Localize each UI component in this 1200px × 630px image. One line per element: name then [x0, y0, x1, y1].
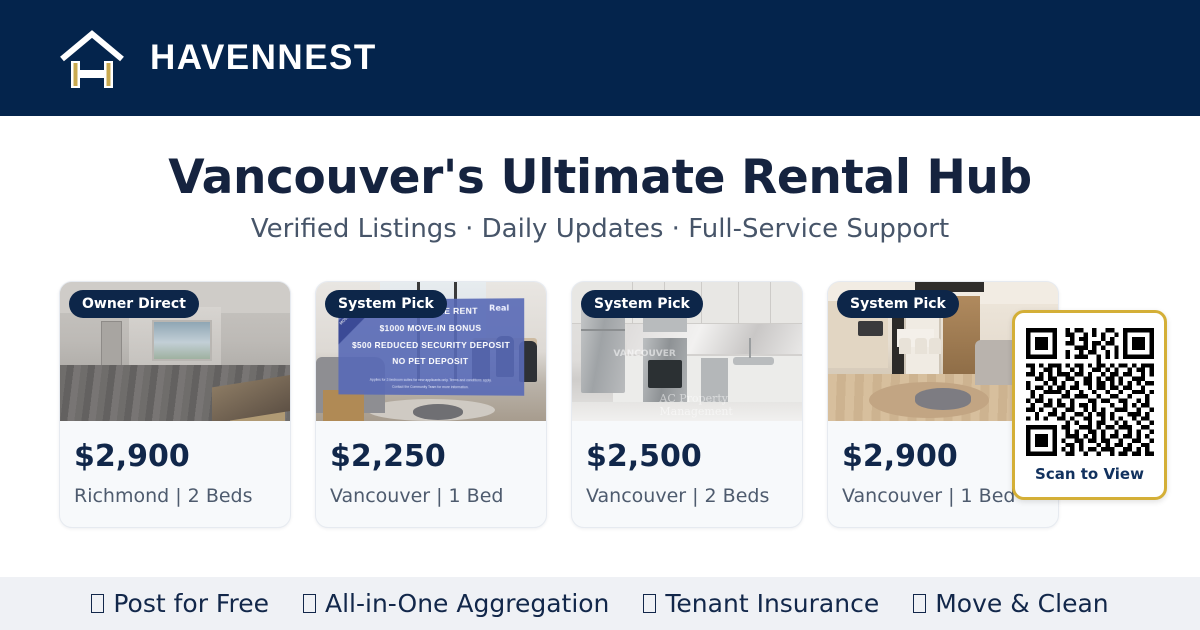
missing-glyph-box-icon [303, 594, 316, 613]
listing-badge: System Pick [325, 290, 447, 318]
promo-line: $1000 MOVE-IN BONUS [379, 319, 481, 336]
qr-label: Scan to View [1035, 465, 1144, 483]
page-title: Vancouver's Ultimate Rental Hub [0, 150, 1200, 205]
feature-item-tenant-insurance[interactable]: Tenant Insurance [643, 589, 879, 618]
feature-bar: Post for Free All-in-One Aggregation Ten… [0, 577, 1200, 630]
listing-price: $2,250 [330, 439, 532, 474]
listing-badge: Owner Direct [69, 290, 199, 318]
feature-label: Post for Free [113, 589, 269, 618]
promo-fine-print: Applies for 2-bedroom suites for new app… [370, 377, 492, 384]
listing-price: $2,500 [586, 439, 788, 474]
page-header: HAVENNEST [0, 0, 1200, 116]
promo-line: $500 REDUCED SECURITY DEPOSIT [352, 336, 510, 353]
listing-photo: VANCOUVER AC Property Management System … [572, 282, 802, 421]
listing-card-row: Owner Direct $2,900 Richmond | 2 Beds [59, 281, 1141, 528]
listing-photo: Owner Direct [60, 282, 290, 421]
feature-label: All-in-One Aggregation [325, 589, 609, 618]
qr-code-icon [1026, 328, 1154, 456]
listing-meta: Vancouver | 1 Bed [330, 485, 532, 507]
photo-watermark: AC Property Management [659, 392, 802, 418]
brand-name: HAVENNEST [150, 38, 377, 78]
missing-glyph-box-icon [643, 594, 656, 613]
photo-watermark: VANCOUVER [613, 349, 675, 359]
missing-glyph-box-icon [913, 594, 926, 613]
house-logo-icon [56, 28, 128, 88]
feature-item-aggregation[interactable]: All-in-One Aggregation [303, 589, 609, 618]
promo-brand-mark: Real [489, 303, 509, 312]
qr-scan-panel[interactable]: Scan to View [1012, 310, 1167, 500]
listing-card[interactable]: MOVE-IN MARCH Real 1 MONTH FREE RENT $10… [315, 281, 547, 528]
listing-price: $2,900 [74, 439, 276, 474]
promo-line: NO PET DEPOSIT [392, 353, 468, 370]
feature-label: Move & Clean [935, 589, 1108, 618]
promo-fine-print: Contact the Community Team for more info… [392, 384, 469, 390]
feature-item-post-for-free[interactable]: Post for Free [91, 589, 269, 618]
hero-section: Vancouver's Ultimate Rental Hub Verified… [0, 116, 1200, 244]
listing-card[interactable]: VANCOUVER AC Property Management System … [571, 281, 803, 528]
missing-glyph-box-icon [91, 594, 104, 613]
listing-card[interactable]: Owner Direct $2,900 Richmond | 2 Beds [59, 281, 291, 528]
listing-meta: Vancouver | 2 Beds [586, 485, 788, 507]
listing-badge: System Pick [581, 290, 703, 318]
page-subtitle: Verified Listings · Daily Updates · Full… [0, 214, 1200, 244]
listing-meta: Richmond | 2 Beds [74, 485, 276, 507]
feature-label: Tenant Insurance [665, 589, 879, 618]
listing-badge: System Pick [837, 290, 959, 318]
listing-details: $2,250 Vancouver | 1 Bed [316, 421, 546, 527]
listing-details: $2,500 Vancouver | 2 Beds [572, 421, 802, 527]
listing-details: $2,900 Richmond | 2 Beds [60, 421, 290, 527]
feature-item-move-and-clean[interactable]: Move & Clean [913, 589, 1108, 618]
listing-photo: MOVE-IN MARCH Real 1 MONTH FREE RENT $10… [316, 282, 546, 421]
